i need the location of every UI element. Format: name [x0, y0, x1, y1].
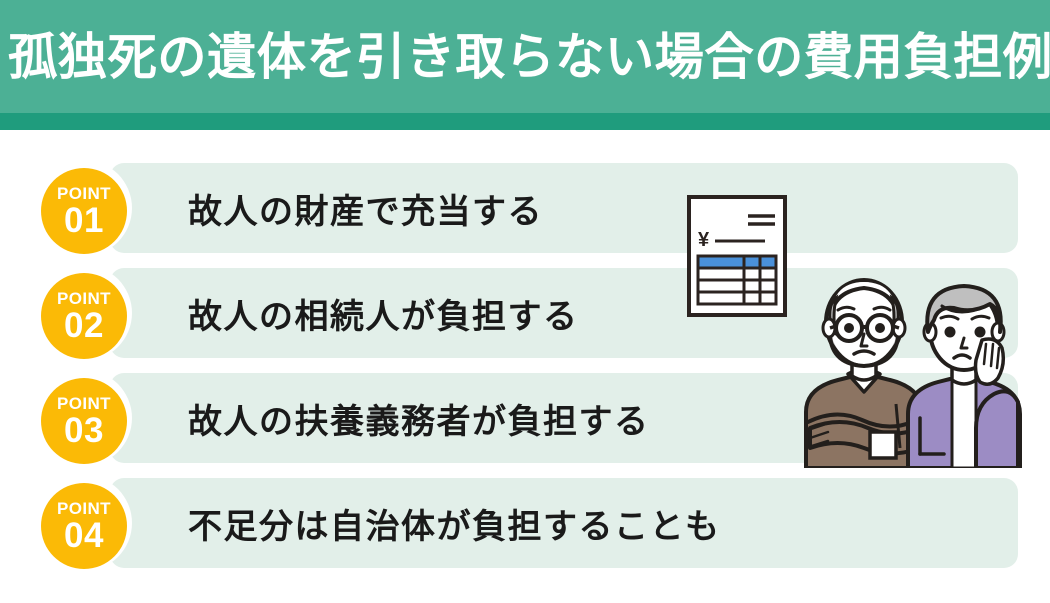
point-badge: POINT 03	[41, 378, 127, 464]
point-badge-word: POINT	[57, 290, 111, 307]
infographic-root: 孤独死の遺体を引き取らない場合の費用負担例 POINT 01 故人の財産で充当す…	[0, 0, 1050, 603]
point-label: 故人の扶養義務者が負担する	[188, 373, 650, 463]
header-banner: 孤独死の遺体を引き取らない場合の費用負担例	[0, 0, 1050, 113]
point-badge-number: 02	[64, 308, 104, 343]
list-item: POINT 02 故人の相続人が負担する	[36, 268, 1018, 358]
header-underline-stripe	[0, 113, 1050, 130]
point-badge-word: POINT	[57, 395, 111, 412]
point-badge-number: 04	[64, 518, 104, 553]
point-badge: POINT 02	[41, 273, 127, 359]
point-badge-number: 03	[64, 413, 104, 448]
point-label: 不足分は自治体が負担することも	[188, 478, 721, 568]
point-badge: POINT 01	[41, 168, 127, 254]
point-badge-word: POINT	[57, 500, 111, 517]
point-label: 故人の相続人が負担する	[188, 268, 579, 358]
point-badge-word: POINT	[57, 185, 111, 202]
point-badge-number: 01	[64, 203, 104, 238]
list-item: POINT 03 故人の扶養義務者が負担する	[36, 373, 1018, 463]
point-label: 故人の財産で充当する	[188, 163, 543, 253]
points-list: POINT 01 故人の財産で充当する POINT 02 故人の相続人が負担する…	[0, 163, 1050, 573]
point-badge: POINT 04	[41, 483, 127, 569]
page-title: 孤独死の遺体を引き取らない場合の費用負担例	[8, 32, 1050, 82]
list-item: POINT 01 故人の財産で充当する	[36, 163, 1018, 253]
list-item: POINT 04 不足分は自治体が負担することも	[36, 478, 1018, 568]
